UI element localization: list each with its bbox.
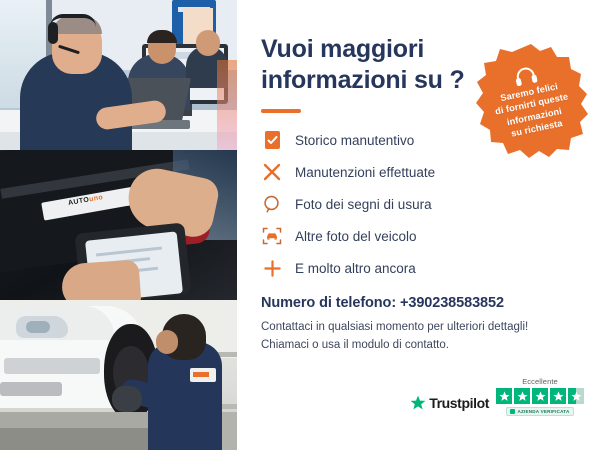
plus-icon — [261, 257, 283, 279]
feature-label: Manutenzioni effettuate — [295, 165, 435, 180]
trustpilot-rating[interactable]: Trustpilot Eccellente — [410, 377, 584, 416]
badge-content: Saremo felici di fornirti queste informa… — [461, 31, 600, 171]
feature-label: E molto altro ancora — [295, 261, 416, 276]
lift-platform — [0, 412, 150, 428]
star-half — [568, 388, 584, 404]
contact-subtext-line-1: Contattaci in qualsiasi momento per ulte… — [261, 318, 576, 336]
crossed-tools-icon — [261, 161, 283, 183]
checklist-document-icon — [261, 129, 283, 151]
call-center-photo — [0, 0, 237, 150]
car-lower-grille — [0, 382, 62, 396]
star-rating — [496, 388, 584, 404]
trustpilot-star-icon — [410, 395, 426, 411]
uniform-logo-patch — [190, 368, 216, 382]
star-filled — [496, 388, 512, 404]
star-filled — [550, 388, 566, 404]
trustpilot-name: Trustpilot — [429, 395, 489, 411]
verified-label: AZIENDA VERIFICATA — [517, 409, 569, 414]
third-agent-head — [196, 30, 220, 56]
trustpilot-logo: Trustpilot — [410, 395, 489, 416]
feature-label: Foto dei segni di usura — [295, 197, 432, 212]
headset-icon — [513, 66, 538, 87]
feature-label: Storico manutentivo — [295, 133, 414, 148]
star-filled — [532, 388, 548, 404]
feature-label: Altre foto del veicolo — [295, 229, 417, 244]
verified-check-icon — [510, 409, 515, 414]
badge-text: Saremo felici di fornirti queste informa… — [492, 79, 575, 142]
car-grille — [4, 358, 100, 374]
trustpilot-score-block: Eccellente — [496, 377, 584, 416]
headlight-lens — [26, 321, 50, 333]
verified-business-badge: AZIENDA VERIFICATA — [506, 407, 573, 416]
hand-holding-tablet — [60, 259, 141, 300]
content-panel: Saremo felici di fornirti queste informa… — [237, 0, 600, 450]
car-headlight — [16, 316, 68, 338]
contact-subtext-line-2: Chiamaci o usa il modulo di contatto. — [261, 336, 576, 354]
list-item: E molto altro ancora — [261, 257, 576, 279]
orange-edge-blur — [217, 60, 237, 150]
photo-column: AUTOuno — [0, 0, 237, 450]
magnifier-icon — [261, 193, 283, 215]
workshop-lift-photo — [0, 300, 237, 450]
trustpilot-rating-label: Eccellente — [522, 377, 558, 386]
lift-platform-base — [0, 428, 150, 450]
star-filled — [514, 388, 530, 404]
car-inspection-photo: AUTOuno — [0, 150, 237, 300]
title-underline-rule — [261, 109, 301, 113]
headline-line-2: informazioni su ? — [261, 66, 465, 94]
phone-number[interactable]: +390238583852 — [400, 295, 504, 311]
list-item: Manutenzioni effettuate — [261, 161, 576, 183]
headset-earpiece — [48, 22, 58, 44]
headline-line-1: Vuoi maggiori — [261, 35, 424, 63]
mechanic-face — [156, 330, 178, 354]
mechanic-glove — [112, 386, 142, 412]
car-photo-frame-icon — [261, 225, 283, 247]
list-item: Altre foto del veicolo — [261, 225, 576, 247]
phone-label: Numero di telefono: — [261, 295, 396, 311]
callout-badge: Saremo felici di fornirti queste informa… — [472, 42, 590, 160]
phone-number-line: Numero di telefono: +390238583852 — [261, 295, 576, 311]
advertisement-banner: AUTOuno — [0, 0, 600, 450]
contact-subtext: Contattaci in qualsiasi momento per ulte… — [261, 318, 576, 355]
list-item: Foto dei segni di usura — [261, 193, 576, 215]
